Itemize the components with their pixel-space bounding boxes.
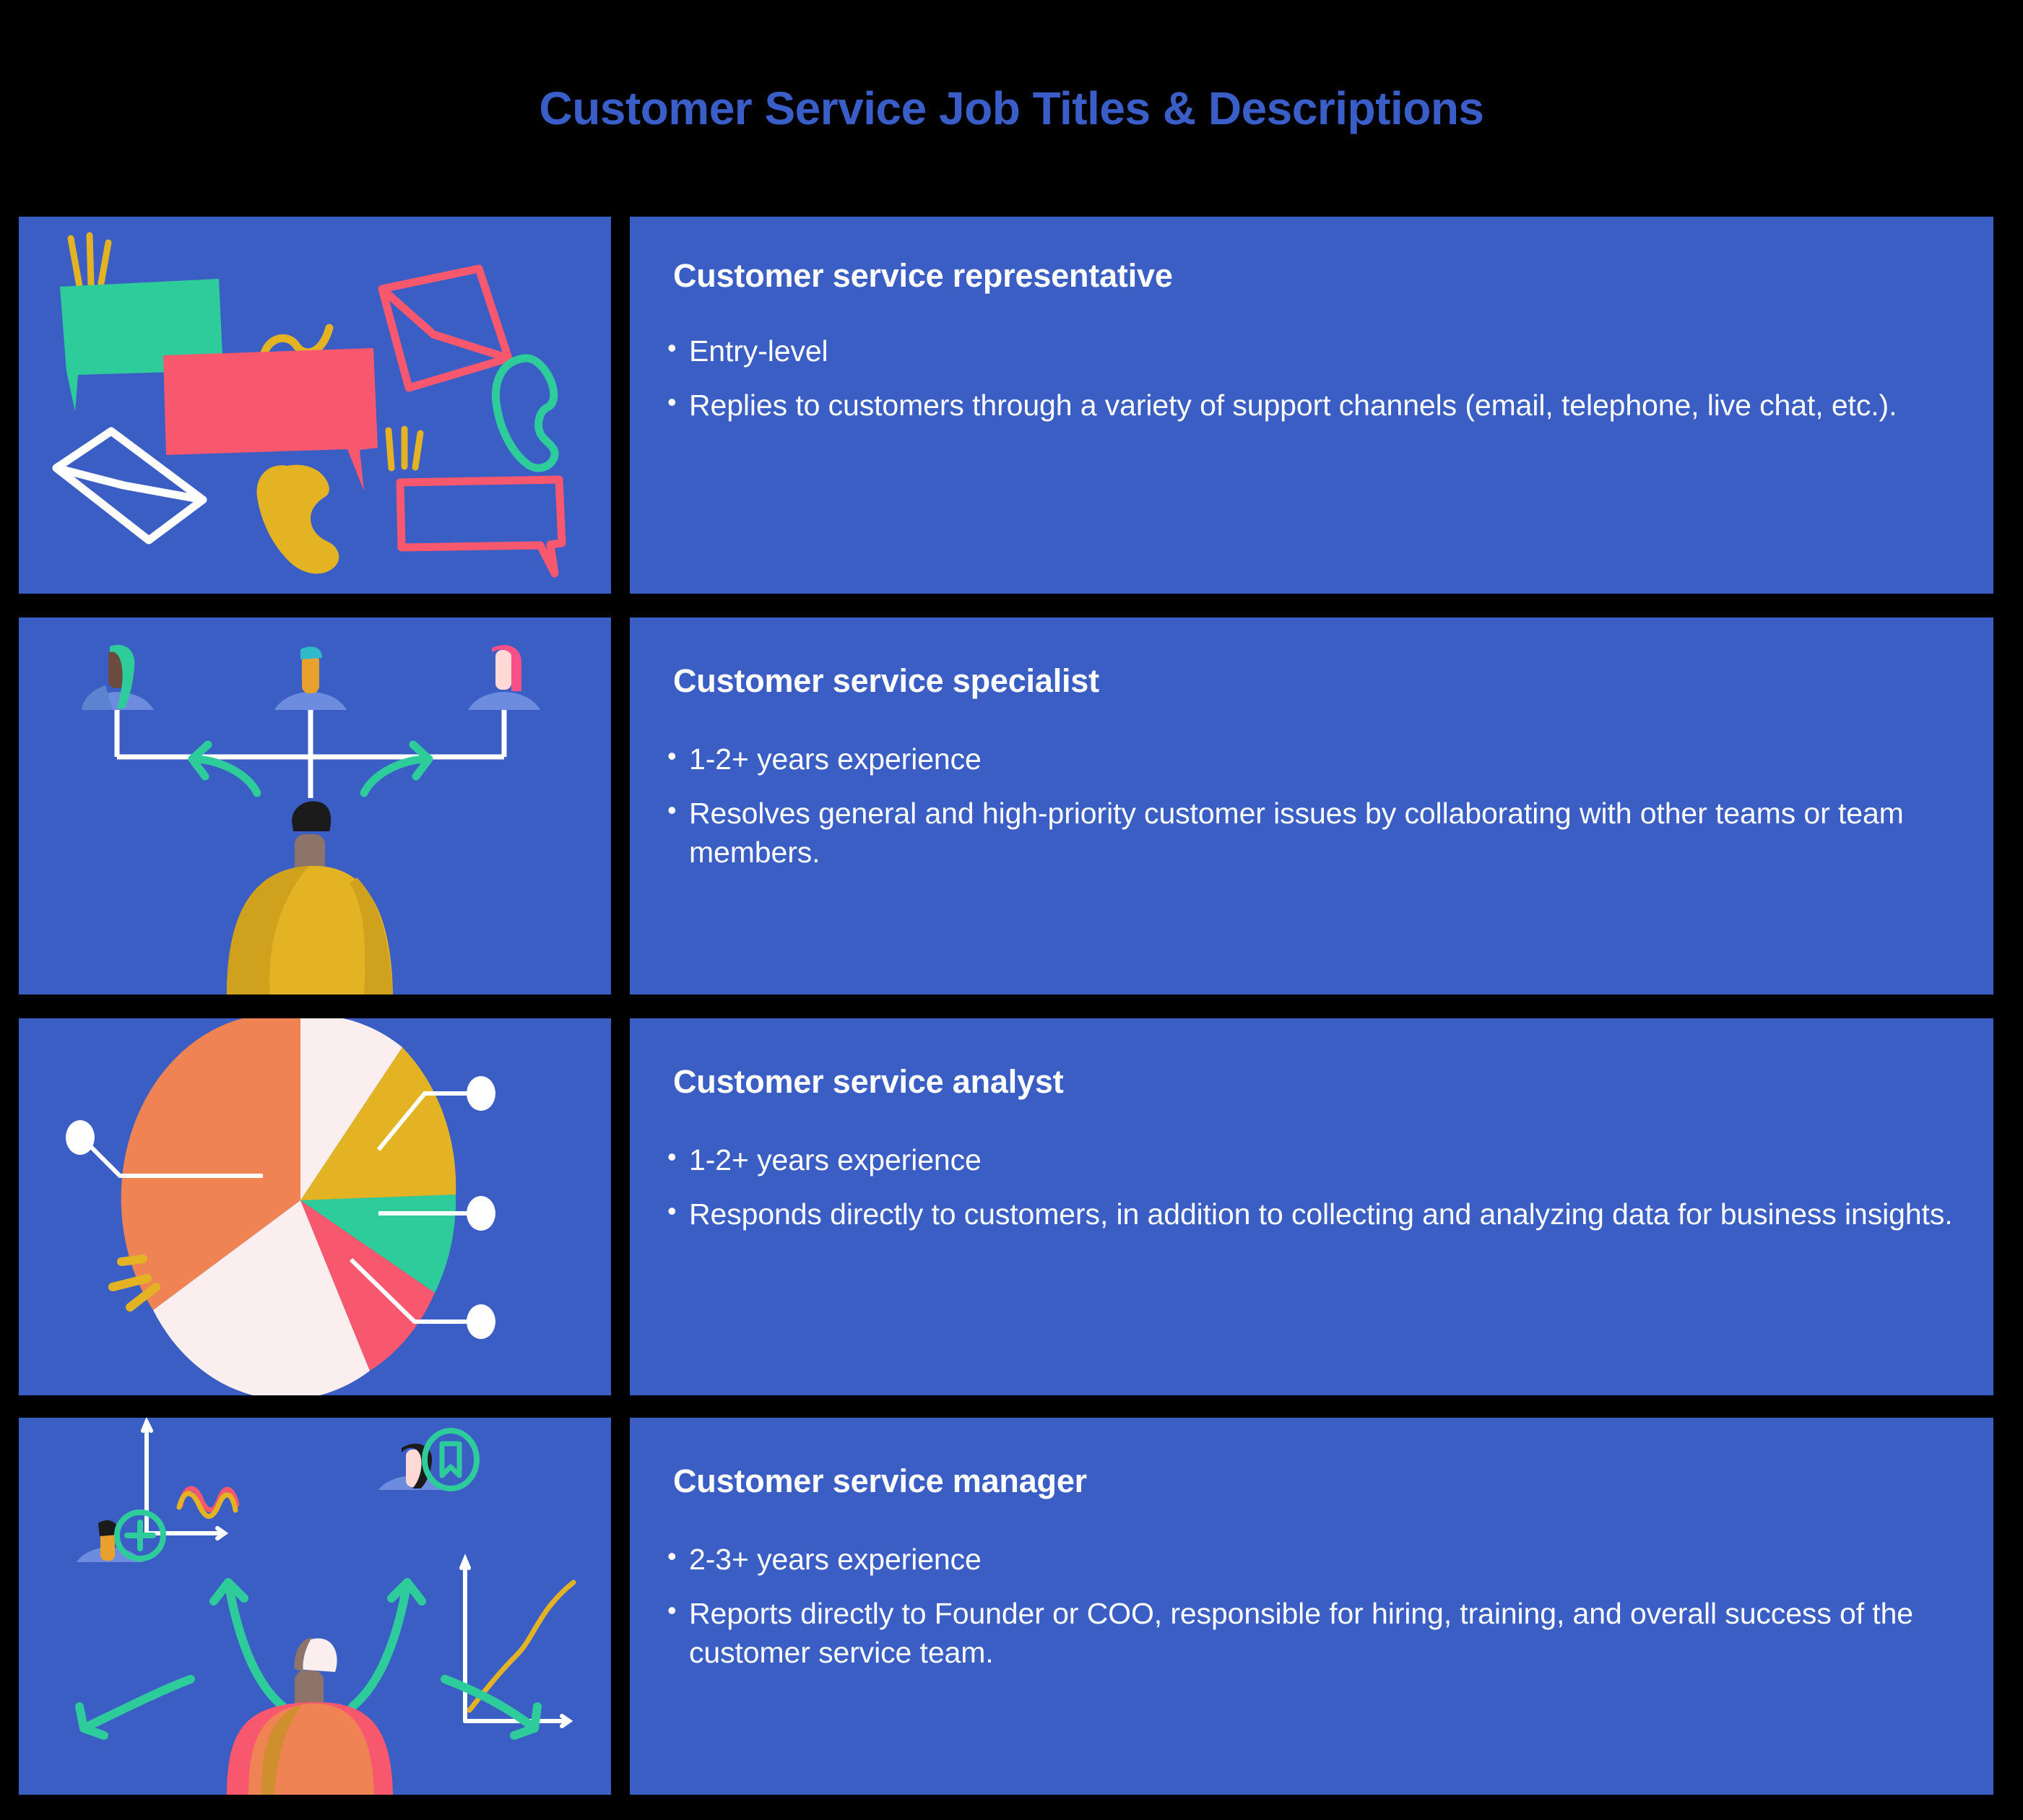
bullet-item: Resolves general and high-priority custo… bbox=[667, 794, 1964, 872]
pie-chart-illustration bbox=[19, 1018, 611, 1395]
card-row-representative: Customer service representative Entry-le… bbox=[0, 217, 2023, 594]
bullet-item: Reports directly to Founder or COO, resp… bbox=[667, 1595, 1964, 1672]
growth-line-chart bbox=[462, 1559, 573, 1726]
communication-channels-illustration bbox=[19, 217, 611, 594]
text-card-manager: Customer service manager 2-3+ years expe… bbox=[630, 1418, 1993, 1795]
illustration-card-leadership bbox=[19, 1418, 611, 1795]
white-org-chart-lines bbox=[117, 710, 504, 798]
bullet-list-manager: 2-3+ years experience Reports directly t… bbox=[667, 1540, 1964, 1688]
yellow-accent-marks-small bbox=[389, 429, 420, 468]
card-heading-specialist: Customer service specialist bbox=[673, 662, 1099, 700]
team-collaboration-org-chart-illustration bbox=[19, 617, 611, 994]
card-heading-analyst: Customer service analyst bbox=[673, 1063, 1063, 1101]
illustration-card-communication bbox=[19, 217, 611, 594]
green-arrow-lower-left bbox=[79, 1679, 191, 1735]
person-avatar-plus-badge bbox=[77, 1512, 163, 1562]
card-row-specialist: Customer service specialist 1-2+ years e… bbox=[0, 617, 2023, 994]
card-heading-representative: Customer service representative bbox=[673, 257, 1173, 295]
green-curved-arrow-left bbox=[192, 745, 257, 793]
card-heading-manager: Customer service manager bbox=[673, 1462, 1087, 1500]
bullet-item: 1-2+ years experience bbox=[667, 740, 1964, 779]
person-avatar-teal-hair bbox=[82, 645, 154, 710]
bullet-item: 1-2+ years experience bbox=[667, 1141, 1964, 1179]
person-avatar-yellow-hair bbox=[274, 646, 347, 710]
bullet-list-analyst: 1-2+ years experience Responds directly … bbox=[667, 1141, 1964, 1250]
green-arrow-up-left bbox=[214, 1582, 283, 1707]
bullet-item: 2-3+ years experience bbox=[667, 1540, 1964, 1579]
yellow-accent-marks bbox=[71, 235, 108, 286]
bullet-item: Entry-level bbox=[667, 332, 1964, 370]
manager-leadership-illustration bbox=[19, 1418, 611, 1795]
illustration-card-collaboration bbox=[19, 617, 611, 994]
bullet-list-representative: Entry-level Replies to customers through… bbox=[667, 332, 1964, 441]
green-arrow-up-right bbox=[352, 1582, 422, 1707]
red-outline-speech-bubble bbox=[400, 480, 562, 573]
green-arrow-lower-right bbox=[445, 1679, 537, 1735]
teal-phone-outline-icon bbox=[496, 358, 555, 468]
person-avatar-pink-hair bbox=[468, 645, 540, 710]
text-card-specialist: Customer service specialist 1-2+ years e… bbox=[630, 617, 1993, 994]
green-curved-arrow-right bbox=[364, 745, 429, 793]
text-card-representative: Customer service representative Entry-le… bbox=[630, 217, 1993, 594]
illustration-card-pie-chart bbox=[19, 1018, 611, 1395]
infographic-page: Customer Service Job Titles & Descriptio… bbox=[0, 0, 2023, 1820]
red-envelope-icon bbox=[382, 269, 508, 388]
page-title: Customer Service Job Titles & Descriptio… bbox=[0, 85, 2023, 131]
pie-chart bbox=[121, 1018, 456, 1395]
bullet-item: Responds directly to customers, in addit… bbox=[667, 1195, 1964, 1234]
person-avatar-award-badge bbox=[378, 1431, 477, 1490]
card-row-analyst: Customer service analyst 1-2+ years expe… bbox=[0, 1018, 2023, 1395]
bullet-list-specialist: 1-2+ years experience Resolves general a… bbox=[667, 740, 1964, 888]
person-yellow-sweater-back-view bbox=[227, 801, 393, 994]
bullet-item: Replies to customers through a variety o… bbox=[667, 386, 1964, 425]
card-row-manager: Customer service manager 2-3+ years expe… bbox=[0, 1418, 2023, 1795]
yellow-phone-handset-icon bbox=[256, 465, 339, 574]
text-card-analyst: Customer service analyst 1-2+ years expe… bbox=[630, 1018, 1993, 1395]
